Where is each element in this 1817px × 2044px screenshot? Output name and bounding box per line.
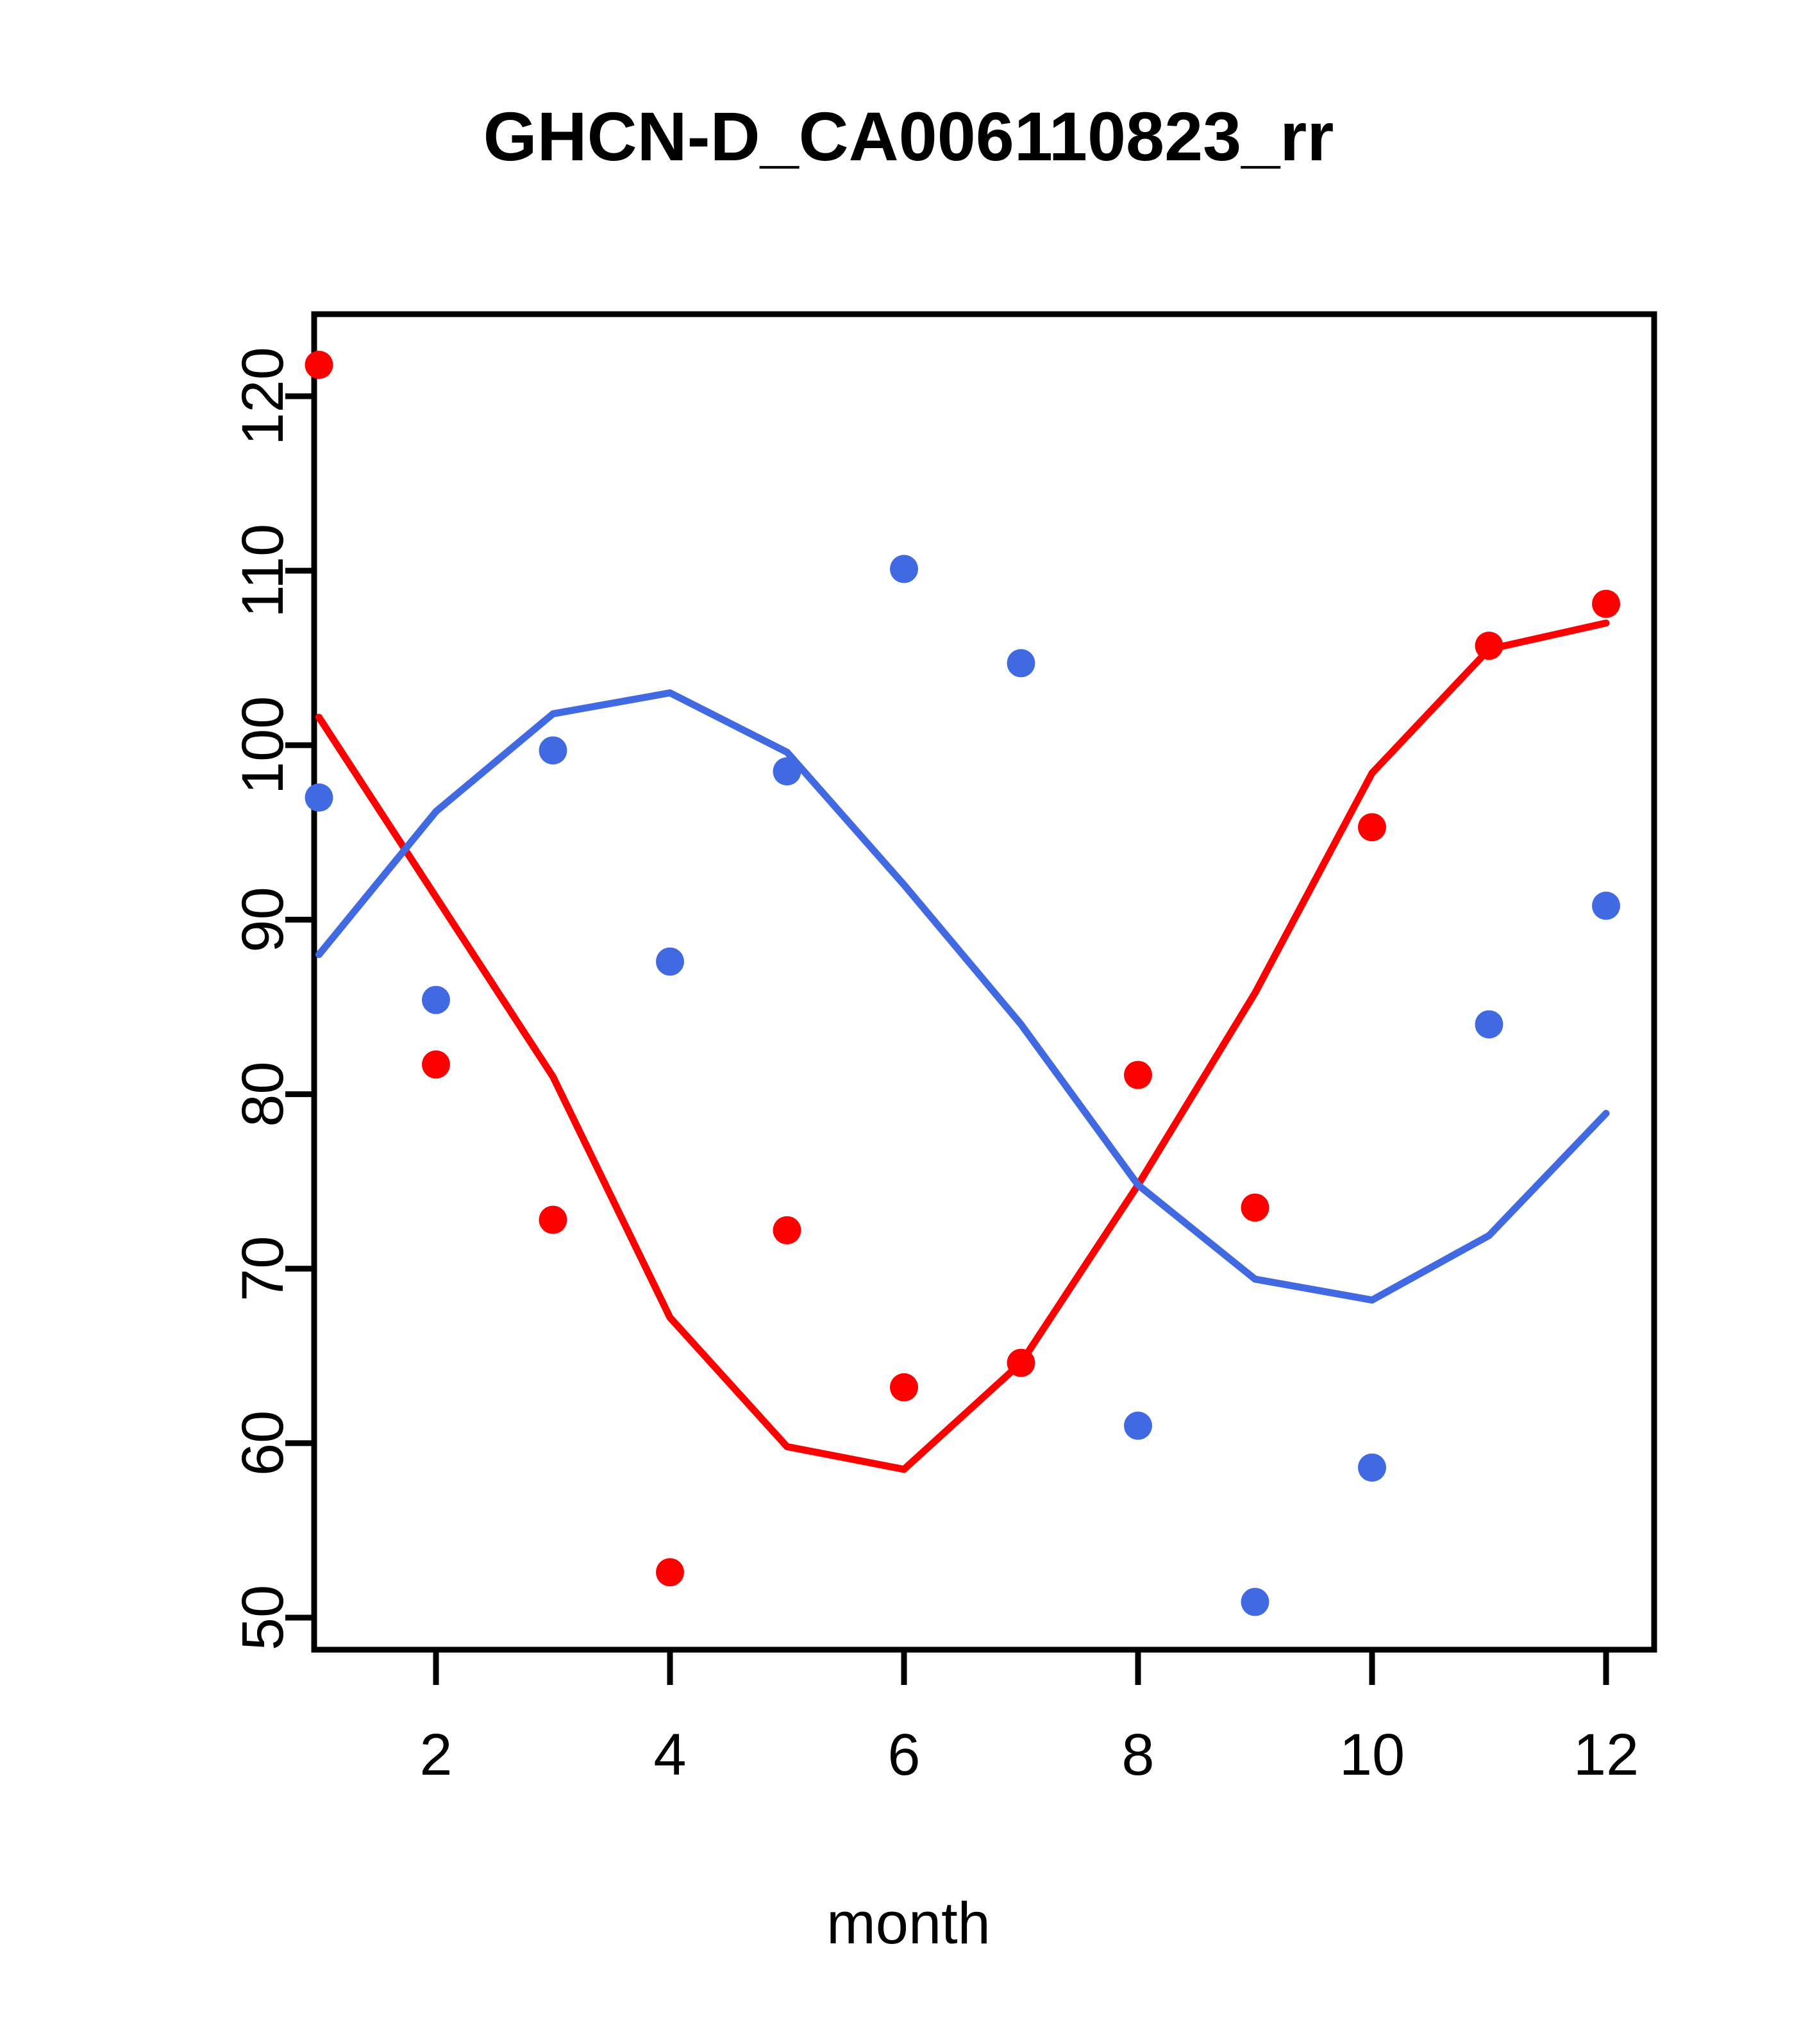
x-axis-ticks <box>436 1650 1606 1685</box>
series-lines <box>319 623 1607 1470</box>
x-axis-label: month <box>0 1890 1817 1957</box>
data-point-blue-points <box>1358 1453 1386 1482</box>
data-point-blue-points <box>1007 649 1035 677</box>
y-tick-label: 100 <box>230 696 296 795</box>
data-point-red-points <box>539 1206 567 1234</box>
x-tick-label: 6 <box>887 1722 920 1788</box>
data-point-blue-points <box>305 783 333 812</box>
x-tick-label: 4 <box>653 1722 686 1788</box>
y-tick-label: 50 <box>230 1585 296 1650</box>
data-point-blue-points <box>773 757 801 785</box>
x-axis-tick-labels: 24681012 <box>419 1722 1639 1788</box>
x-tick-label: 8 <box>1121 1722 1154 1788</box>
y-tick-label: 110 <box>230 524 296 618</box>
data-point-red-points <box>422 1050 450 1078</box>
y-tick-label: 90 <box>230 887 296 952</box>
data-point-blue-points <box>422 986 450 1014</box>
data-point-blue-points <box>539 736 567 764</box>
data-point-red-points <box>1475 632 1503 660</box>
data-point-red-points <box>1007 1349 1035 1377</box>
data-point-red-points <box>1592 590 1620 618</box>
data-point-blue-points <box>656 948 684 976</box>
data-point-red-points <box>890 1373 918 1402</box>
y-axis-tick-labels: 5060708090100110120 <box>230 347 296 1650</box>
data-point-blue-points <box>1124 1412 1152 1440</box>
data-point-red-points <box>773 1216 801 1244</box>
y-tick-label: 80 <box>230 1061 296 1127</box>
data-point-blue-points <box>1475 1010 1503 1039</box>
data-point-red-points <box>305 351 333 379</box>
x-tick-label: 10 <box>1339 1722 1405 1788</box>
data-point-blue-points <box>890 555 918 583</box>
y-tick-label: 60 <box>230 1411 296 1476</box>
data-point-red-points <box>1358 813 1386 841</box>
data-point-red-points <box>1124 1061 1152 1089</box>
x-tick-label: 2 <box>419 1722 452 1788</box>
x-tick-label: 12 <box>1573 1722 1639 1788</box>
chart-page: GHCN-D_CA006110823_rr 506070809010011012… <box>0 0 1817 2044</box>
y-tick-label: 120 <box>230 347 296 446</box>
y-tick-label: 70 <box>230 1236 296 1302</box>
data-point-red-points <box>1241 1193 1269 1221</box>
series-line-blue-line <box>319 693 1607 1300</box>
scatter-line-plot: 5060708090100110120 24681012 <box>0 0 1817 2044</box>
series-points <box>305 351 1621 1616</box>
data-point-blue-points <box>1592 892 1620 920</box>
data-point-blue-points <box>1241 1588 1269 1616</box>
data-point-red-points <box>656 1558 684 1586</box>
